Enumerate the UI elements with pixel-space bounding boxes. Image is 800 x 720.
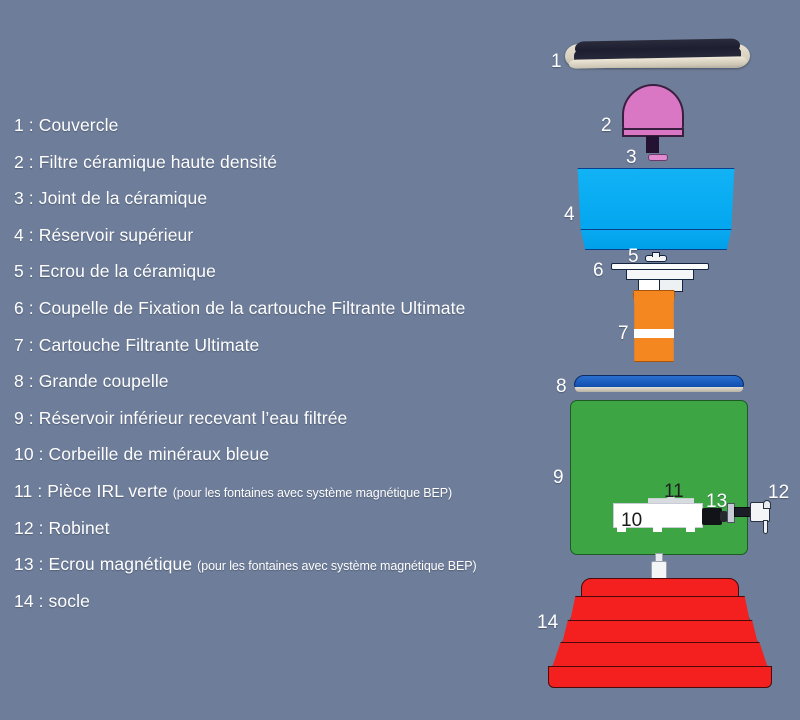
callout-3: 3 bbox=[626, 148, 637, 167]
callout-8: 8 bbox=[556, 377, 567, 396]
callout-13: 13 bbox=[706, 492, 727, 511]
mineral-basket-foot bbox=[653, 527, 662, 532]
cartridge-white-band bbox=[634, 329, 674, 338]
callout-6: 6 bbox=[593, 261, 604, 280]
callout-7: 7 bbox=[618, 324, 629, 343]
ceramic-stem bbox=[646, 136, 659, 153]
callout-2: 2 bbox=[601, 116, 612, 135]
part-fixing-cup bbox=[611, 263, 709, 293]
part-ceramic-nut bbox=[645, 252, 667, 262]
callout-4: 4 bbox=[564, 205, 575, 224]
part-lid-couvercle bbox=[565, 38, 750, 72]
callout-14: 14 bbox=[537, 613, 558, 632]
socle-tier-3 bbox=[562, 620, 758, 644]
upper-reservoir-body bbox=[576, 168, 736, 231]
part-filter-cartridge bbox=[633, 290, 675, 362]
socle-tier-2 bbox=[570, 596, 750, 622]
tap-spout bbox=[763, 520, 768, 534]
ceramic-nut-cap bbox=[652, 252, 660, 257]
gasket-ring bbox=[648, 154, 668, 161]
part-tap-robinet bbox=[727, 500, 781, 536]
socle-tier-4 bbox=[552, 642, 768, 668]
mineral-basket-foot bbox=[686, 527, 695, 532]
part-socle-base bbox=[548, 578, 772, 690]
tap-shaft bbox=[734, 507, 751, 517]
socle-tier-1 bbox=[581, 578, 739, 598]
part-ceramic-gasket bbox=[648, 154, 668, 161]
cartridge-tube bbox=[633, 290, 675, 362]
socle-tier-5 bbox=[548, 666, 772, 688]
exploded-diagram-page: 1 : Couvercle 2 : Filtre céramique haute… bbox=[0, 0, 800, 720]
part-large-dish bbox=[574, 375, 744, 392]
callout-11: 11 bbox=[664, 482, 684, 501]
part-ceramic-filter bbox=[622, 84, 684, 148]
exploded-view-diagram: 1 2 3 4 5 6 bbox=[0, 0, 800, 720]
large-dish-lip bbox=[575, 387, 743, 392]
callout-12: 12 bbox=[768, 483, 789, 502]
ceramic-dome bbox=[622, 84, 684, 130]
callout-1: 1 bbox=[551, 52, 562, 71]
part-upper-reservoir bbox=[576, 168, 736, 250]
callout-9: 9 bbox=[553, 468, 564, 487]
callout-10: 10 bbox=[621, 511, 642, 530]
upper-reservoir-base bbox=[579, 229, 733, 250]
